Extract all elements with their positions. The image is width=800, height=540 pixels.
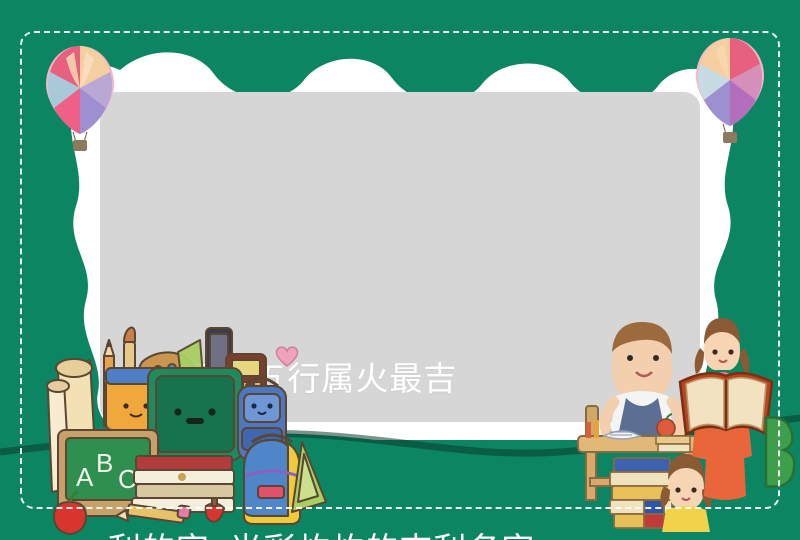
svg-text:B: B [96, 448, 113, 478]
hot-air-balloon-right [690, 34, 770, 149]
balloon-envelope [696, 38, 764, 126]
desk-books [656, 436, 690, 452]
poster-canvas: 2022男孩五行属火最吉 利的字_光彩灼灼的吉利名字 [0, 0, 800, 540]
green-notebook-face [148, 368, 242, 460]
hot-air-balloon-left [40, 42, 120, 157]
children-reading-cluster [560, 310, 800, 540]
green-letter-b [764, 417, 794, 486]
balloon-basket [73, 140, 87, 151]
big-open-book [680, 373, 772, 434]
svg-text:A: A [76, 462, 94, 492]
school-supplies-cluster: A B C [30, 320, 360, 540]
balloon-basket [723, 132, 737, 143]
balloon-envelope [46, 46, 114, 134]
